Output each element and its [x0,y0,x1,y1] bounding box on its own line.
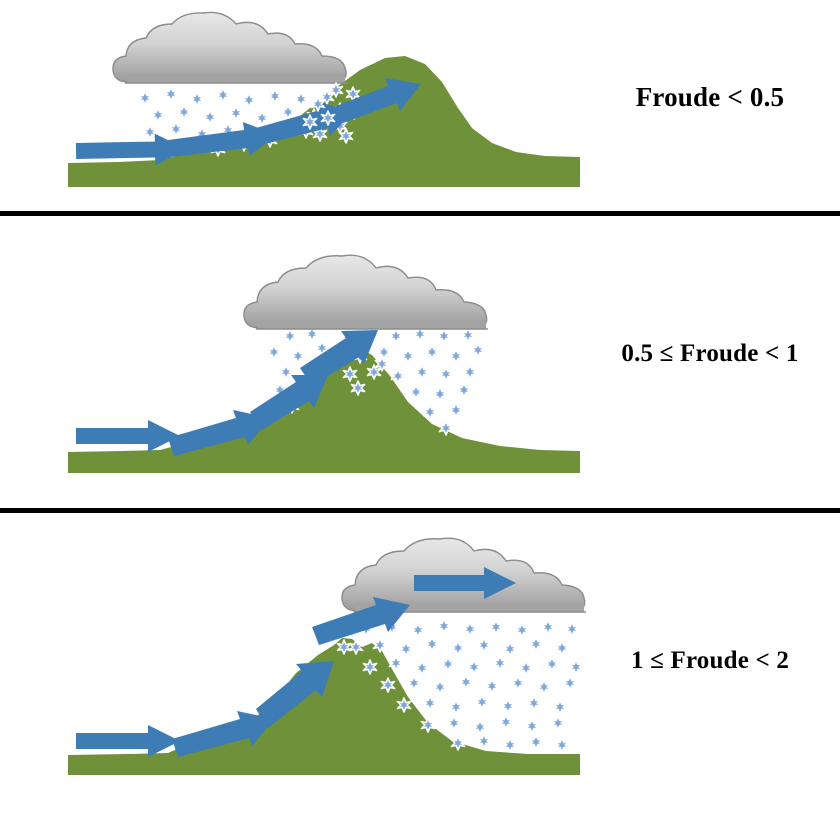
panel-froude-high: 1 ≤ Froude < 2 [0,513,840,813]
panel-2-label: 0.5 ≤ Froude < 1 [580,340,840,368]
panel-3-illustration [0,513,600,813]
panel-3-label: 1 ≤ Froude < 2 [580,647,840,675]
panel-froude-mid: 0.5 ≤ Froude < 1 [0,216,840,508]
panel-1-figure [0,0,600,208]
cloud-panel-2 [244,255,488,329]
panel-froude-low: Froude < 0.5 [0,0,840,208]
panel-1-label: Froude < 0.5 [580,82,840,113]
panel-1-illustration [0,0,600,208]
figure-root: Froude < 0.5 [0,0,840,820]
panel-3-figure [0,513,600,813]
cloud-panel-1 [113,12,348,83]
panel-2-figure [0,216,600,508]
panel-2-illustration [0,216,600,508]
